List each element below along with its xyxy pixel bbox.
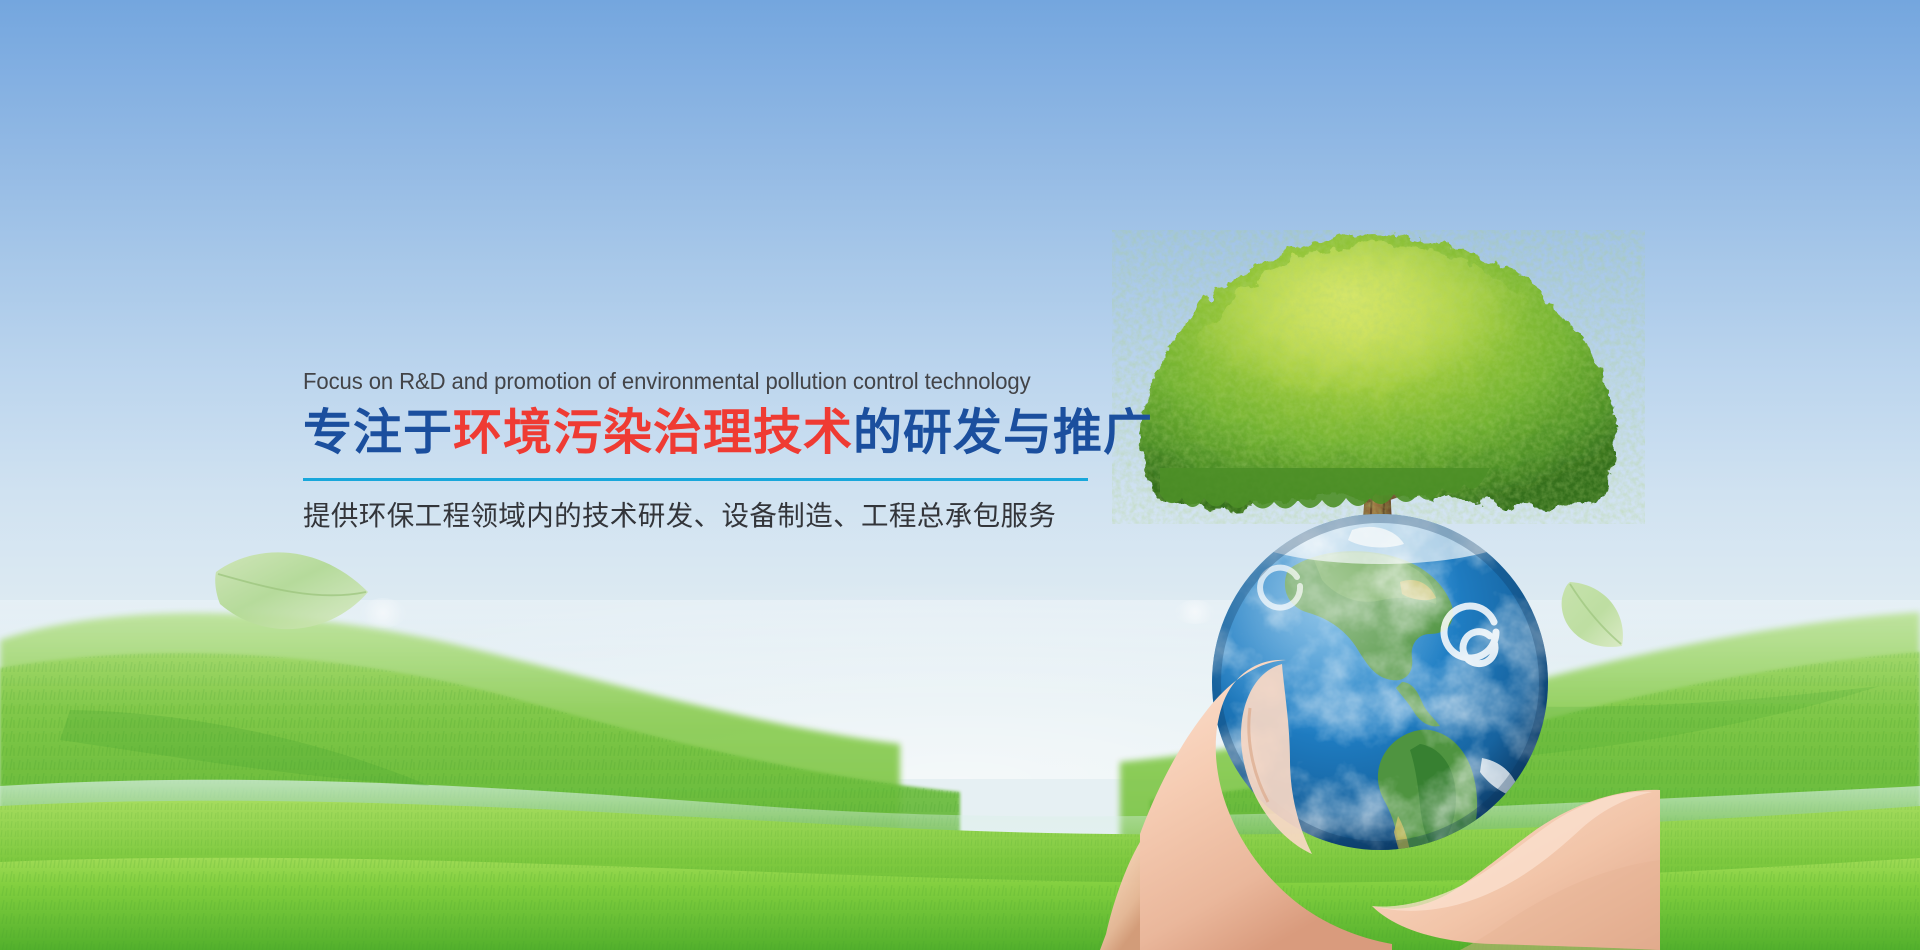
hero-eyebrow: Focus on R&D and promotion of environmen…: [303, 366, 1055, 396]
hero-headline: 专注于环境污染治理技术的研发与推广: [303, 402, 1103, 464]
hero-copy: Focus on R&D and promotion of environmen…: [303, 366, 1103, 535]
canopy-leaf-texture: [1141, 236, 1617, 507]
hero-banner: Focus on R&D and promotion of environmen…: [0, 0, 1920, 950]
headline-lead: 专注于: [303, 404, 453, 461]
headline-divider: [303, 478, 1088, 481]
hero-subline: 提供环保工程领域内的技术研发、设备制造、工程总承包服务: [303, 497, 1103, 535]
headline-tail: 的研发与推广: [853, 404, 1153, 461]
canopy-fringe: [1160, 468, 1490, 509]
headline-emphasis: 环境污染治理技术: [453, 404, 853, 461]
tree-on-globe-in-hands: [1100, 230, 1660, 950]
forearm-left: [1100, 842, 1140, 950]
